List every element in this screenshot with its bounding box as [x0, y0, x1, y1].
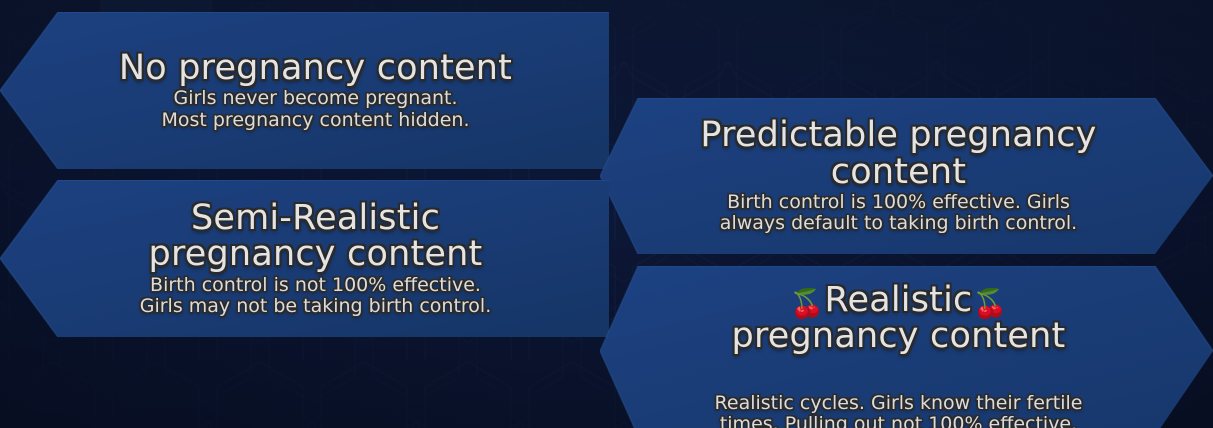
cherries-icon-left: 🍒: [789, 287, 824, 320]
panel-subtitle: Realistic cycles. Girls know their ferti…: [656, 393, 1141, 428]
panel-title: Semi-Realistic pregnancy content: [92, 200, 539, 273]
panel-title-line1: Realistic: [825, 280, 973, 320]
option-no-pregnancy-content[interactable]: No pregnancy content Girls never become …: [0, 12, 609, 169]
option-predictable-pregnancy-content[interactable]: Predictable pregnancy content Birth cont…: [600, 98, 1213, 254]
pregnancy-content-options-screen: No pregnancy content Girls never become …: [0, 0, 1213, 428]
panel-subtitle: Girls never become pregnant. Most pregna…: [92, 88, 539, 131]
cherries-icon-right: 🍒: [972, 287, 1007, 320]
panel-subtitle: Birth control is 100% effective. Girls a…: [656, 192, 1141, 235]
option-semi-realistic-pregnancy-content[interactable]: Semi-Realistic pregnancy content Birth c…: [0, 180, 609, 337]
panel-subtitle: Birth control is not 100% effective. Gir…: [92, 275, 539, 318]
panel-title: Predictable pregnancy content: [656, 117, 1141, 190]
panel-title: 🍒Realistic🍒 pregnancy content: [656, 245, 1141, 391]
panel-title-line2: pregnancy content: [656, 318, 1141, 354]
panel-title: No pregnancy content: [92, 50, 539, 86]
option-realistic-pregnancy-content[interactable]: 🍒Realistic🍒 pregnancy content Realistic …: [600, 266, 1213, 428]
